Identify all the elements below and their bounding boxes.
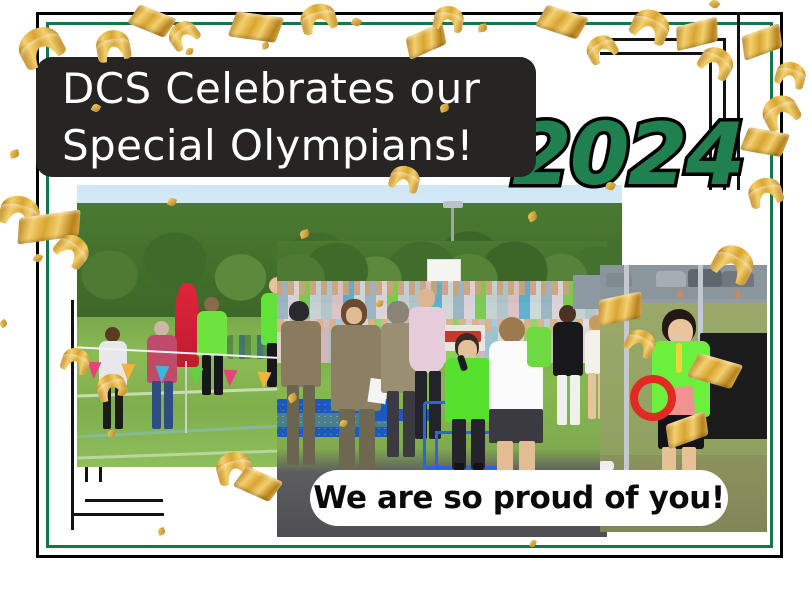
confetti-fleck	[0, 319, 9, 329]
caption-text: We are so proud of you!	[313, 480, 724, 516]
title-line-1: DCS Celebrates our	[62, 60, 536, 117]
poster-canvas: DCS Celebrates our Special Olympians! 20…	[0, 0, 810, 600]
confetti-fleck	[9, 149, 19, 159]
title-banner: DCS Celebrates our Special Olympians!	[36, 57, 536, 177]
year-label: 2024	[512, 112, 743, 198]
title-line-2: Special Olympians!	[62, 117, 536, 174]
confetti-fleck	[708, 0, 720, 10]
caption-pill: We are so proud of you!	[310, 470, 728, 526]
